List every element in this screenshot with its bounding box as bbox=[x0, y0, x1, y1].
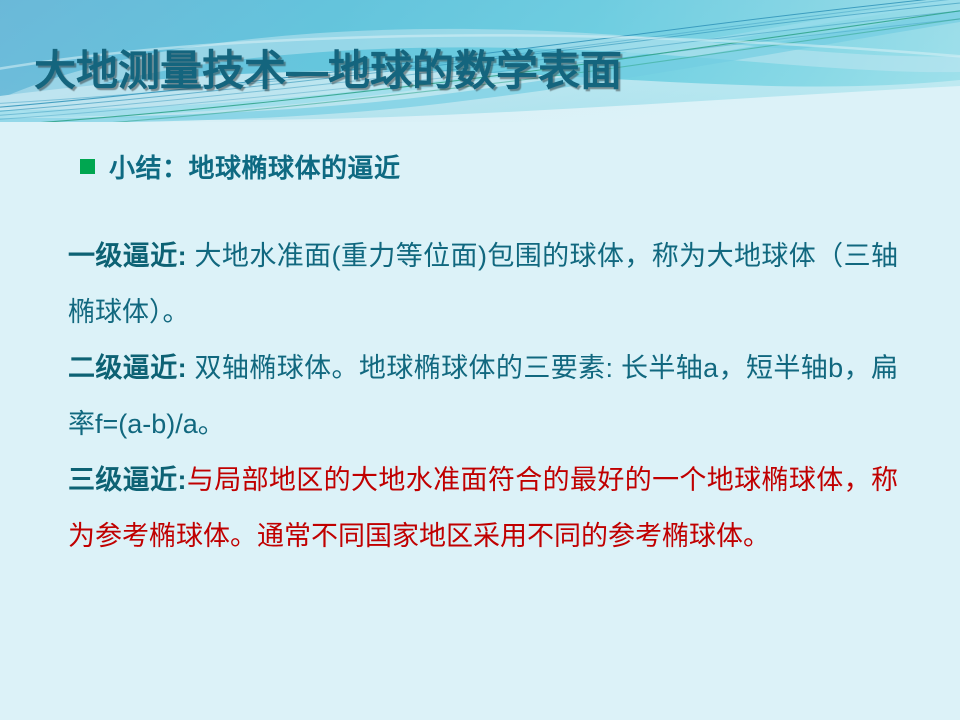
body-content: 一级逼近: 大地水准面(重力等位面)包围的球体，称为大地球体（三轴椭球体）。 二… bbox=[68, 228, 898, 564]
green-square-bullet-icon bbox=[80, 159, 95, 174]
paragraph-level-3: 三级逼近:与局部地区的大地水准面符合的最好的一个地球椭球体，称为参考椭球体。通常… bbox=[68, 452, 898, 564]
slide-canvas: 大地测量技术—地球的数学表面 小结：地球椭球体的逼近 一级逼近: 大地水准面(重… bbox=[0, 0, 960, 720]
paragraph-level-3-text: 与局部地区的大地水准面符合的最好的一个地球椭球体，称为参考椭球体。通常不同国家地… bbox=[68, 465, 898, 551]
paragraph-level-1-lead: 一级逼近: bbox=[68, 241, 187, 271]
paragraph-level-2: 二级逼近: 双轴椭球体。地球椭球体的三要素: 长半轴a，短半轴b，扁率f=(a-… bbox=[68, 340, 898, 452]
paragraph-level-1-text: 大地水准面(重力等位面)包围的球体，称为大地球体（三轴椭球体）。 bbox=[68, 241, 898, 327]
summary-bullet-heading: 小结：地球椭球体的逼近 bbox=[80, 148, 401, 185]
summary-bullet-label: 小结：地球椭球体的逼近 bbox=[109, 148, 401, 185]
paragraph-level-2-text: 双轴椭球体。地球椭球体的三要素: 长半轴a，短半轴b，扁率f=(a-b)/a。 bbox=[68, 353, 898, 439]
page-title: 大地测量技术—地球的数学表面 bbox=[34, 42, 914, 100]
paragraph-level-1: 一级逼近: 大地水准面(重力等位面)包围的球体，称为大地球体（三轴椭球体）。 bbox=[68, 228, 898, 340]
paragraph-level-3-lead: 三级逼近: bbox=[68, 465, 186, 495]
paragraph-level-2-lead: 二级逼近: bbox=[68, 353, 187, 383]
